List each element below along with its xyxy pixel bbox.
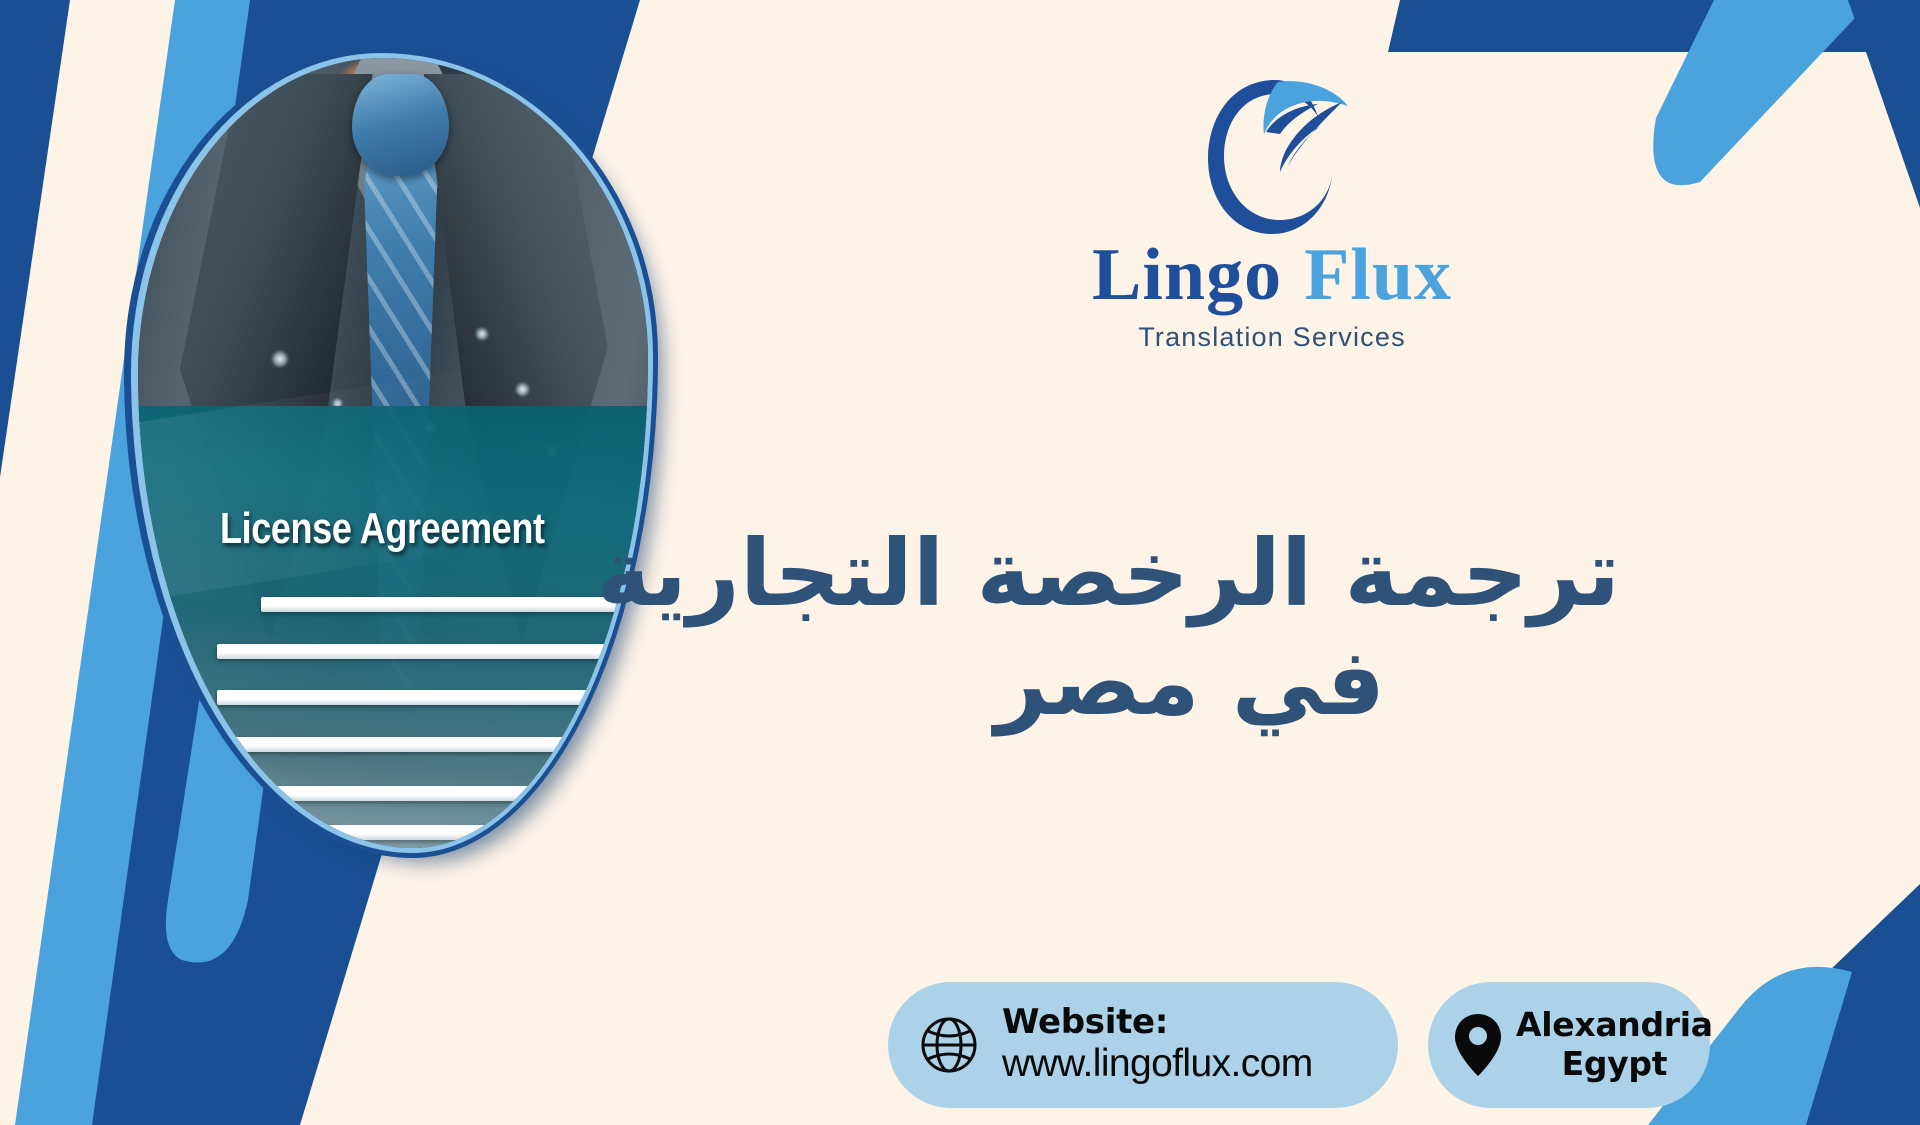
location-country: Egypt (1516, 1045, 1713, 1084)
doc-bullet (221, 783, 234, 796)
website-label: Website: (1002, 1003, 1313, 1042)
poster-canvas: License Agreement LingoFlux (0, 0, 1920, 1125)
bokeh-dot (475, 327, 489, 341)
bokeh-dot (271, 350, 289, 368)
website-url[interactable]: www.lingoflux.com (1002, 1042, 1313, 1086)
headline-line-1: ترجمة الرخصة التجارية (760, 520, 1620, 629)
doc-line (217, 644, 638, 659)
lingoflux-logo-mark (1192, 72, 1352, 242)
hero-photo: License Agreement (138, 58, 648, 848)
location-city: Alexandria (1516, 1005, 1713, 1044)
logo-word-flux: Flux (1304, 234, 1452, 316)
map-pin-icon (1450, 1010, 1506, 1080)
doc-line (217, 737, 638, 752)
location-text-group: Alexandria Egypt (1516, 1006, 1713, 1084)
doc-line (217, 690, 638, 705)
license-agreement-caption: License Agreement (220, 504, 545, 554)
website-text-group: Website: www.lingoflux.com (1002, 1003, 1313, 1086)
globe-icon (918, 1014, 980, 1076)
website-pill[interactable]: Website: www.lingoflux.com (888, 982, 1398, 1108)
doc-line (256, 786, 638, 801)
brand-logo: LingoFlux Translation Services (1062, 72, 1482, 353)
logo-wordmark: LingoFlux (1062, 238, 1482, 312)
location-pill[interactable]: Alexandria Egypt (1428, 982, 1710, 1108)
doc-line (256, 825, 638, 840)
headline-line-2: في مصر (760, 629, 1620, 738)
document-text-lines (199, 587, 638, 832)
doc-line (261, 597, 638, 612)
logo-word-lingo: Lingo (1092, 234, 1282, 316)
hero-image-blob: License Agreement (138, 58, 648, 848)
photo-tie-knot (352, 74, 449, 177)
logo-tagline: Translation Services (1062, 322, 1482, 353)
page-title: ترجمة الرخصة التجارية في مصر (760, 520, 1620, 737)
